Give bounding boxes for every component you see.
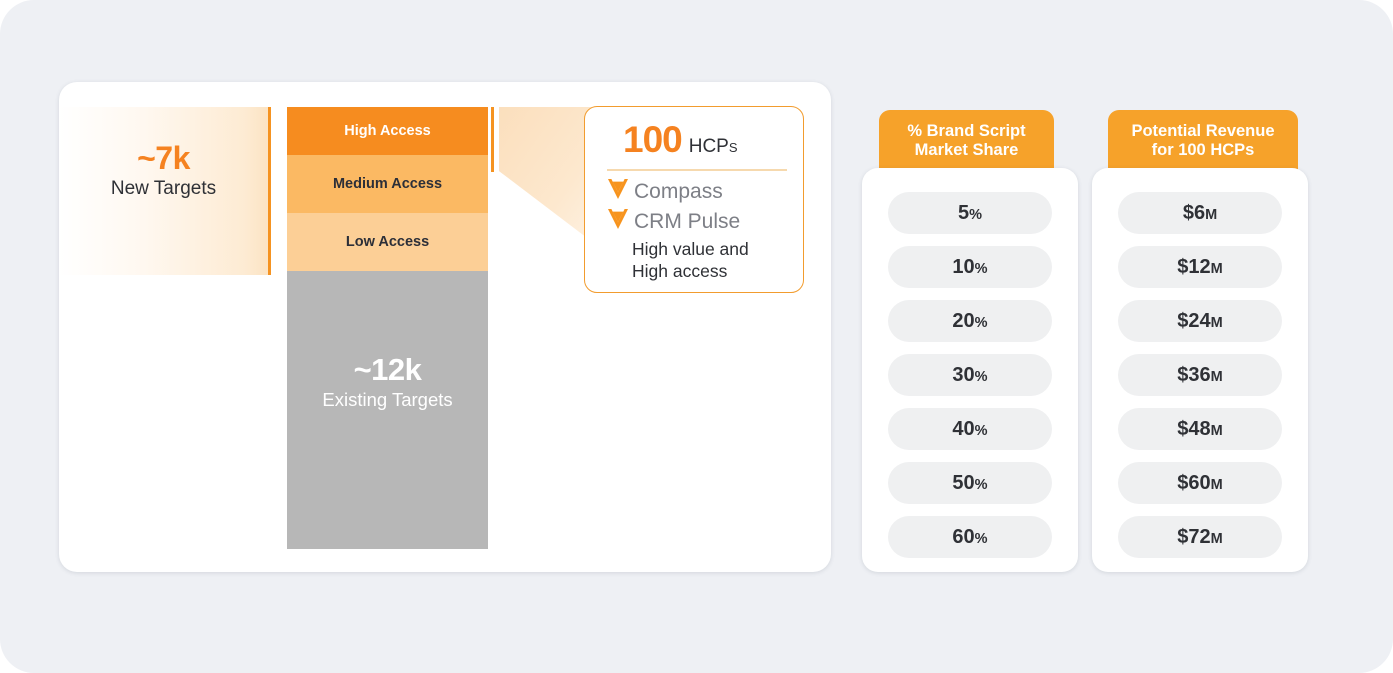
product-row-compass[interactable]: Compass (607, 177, 787, 206)
market-share-row[interactable]: 20% (888, 300, 1052, 342)
existing-targets-label: Existing Targets (322, 388, 452, 412)
new-targets-value: ~7k (59, 142, 268, 176)
revenue-unit: M (1211, 369, 1223, 385)
callout-headline: 100 HCPs (607, 119, 787, 161)
revenue-number: $48 (1177, 418, 1210, 440)
revenue-number: $24 (1177, 310, 1210, 332)
segmentation-panel: ~7k New Targets High Access Medium Acces… (59, 82, 831, 572)
callout-connector-tick (491, 107, 494, 172)
metric-header-market-share-line-2: Market Share (907, 141, 1025, 160)
metric-header-market-share-line-1: % Brand Script (907, 122, 1025, 141)
market-share-unit: % (975, 423, 988, 439)
revenue-unit: M (1211, 531, 1223, 547)
revenue-value: $12M (1177, 256, 1222, 279)
revenue-row[interactable]: $6M (1118, 192, 1282, 234)
access-tier-medium[interactable]: Medium Access (287, 155, 488, 213)
market-share-unit: % (969, 207, 982, 223)
revenue-unit: M (1211, 477, 1223, 493)
callout-divider (607, 169, 787, 171)
metric-header-revenue-line-2: for 100 HCPs (1131, 141, 1274, 160)
product-name-compass: Compass (634, 180, 723, 204)
market-share-unit: % (975, 261, 988, 277)
revenue-row[interactable]: $24M (1118, 300, 1282, 342)
product-row-crm-pulse[interactable]: CRM Pulse (607, 207, 787, 236)
metric-card-market-share: 5% 10% 20% 30% 40% 50% 60% (862, 168, 1078, 572)
market-share-number: 40 (952, 418, 974, 440)
market-share-value: 10% (952, 256, 987, 279)
metric-header-revenue-line-1: Potential Revenue (1131, 122, 1274, 141)
callout-description-line-1: High value and (632, 239, 787, 261)
product-name-crm-pulse: CRM Pulse (634, 210, 740, 234)
new-targets-label: New Targets (59, 177, 268, 202)
market-share-row[interactable]: 10% (888, 246, 1052, 288)
revenue-row[interactable]: $60M (1118, 462, 1282, 504)
revenue-number: $6 (1183, 202, 1205, 224)
market-share-number: 50 (952, 472, 974, 494)
access-tier-low-label: Low Access (346, 234, 429, 250)
revenue-value: $6M (1183, 202, 1217, 225)
metric-header-revenue: Potential Revenue for 100 HCPs (1108, 110, 1298, 172)
revenue-number: $36 (1177, 364, 1210, 386)
existing-targets-block[interactable]: ~12k Existing Targets (287, 271, 488, 549)
market-share-value: 20% (952, 310, 987, 333)
revenue-row[interactable]: $12M (1118, 246, 1282, 288)
market-share-unit: % (975, 369, 988, 385)
metric-card-revenue: $6M $12M $24M $36M $48M $60M $72M (1092, 168, 1308, 572)
market-share-row[interactable]: 50% (888, 462, 1052, 504)
market-share-number: 60 (952, 526, 974, 548)
callout-description: High value and High access (607, 239, 787, 283)
access-tier-high[interactable]: High Access (287, 107, 488, 155)
market-share-number: 5 (958, 202, 969, 224)
market-share-row[interactable]: 5% (888, 192, 1052, 234)
market-share-row[interactable]: 30% (888, 354, 1052, 396)
market-share-value: 30% (952, 364, 987, 387)
market-share-value: 50% (952, 472, 987, 495)
revenue-value: $72M (1177, 526, 1222, 549)
market-share-number: 10 (952, 256, 974, 278)
revenue-number: $60 (1177, 472, 1210, 494)
market-share-value: 5% (958, 202, 982, 225)
metric-header-market-share: % Brand Script Market Share (879, 110, 1054, 172)
market-share-unit: % (975, 531, 988, 547)
page-canvas: ~7k New Targets High Access Medium Acces… (0, 0, 1393, 673)
market-share-number: 30 (952, 364, 974, 386)
market-share-number: 20 (952, 310, 974, 332)
veeva-v-icon (607, 177, 629, 206)
callout-hcp-unit: HCPs (689, 136, 738, 158)
revenue-value: $60M (1177, 472, 1222, 495)
new-targets-divider-rule (268, 107, 271, 275)
revenue-unit: M (1211, 315, 1223, 331)
revenue-value: $24M (1177, 310, 1222, 333)
revenue-unit: M (1205, 207, 1217, 223)
revenue-value: $36M (1177, 364, 1222, 387)
market-share-row[interactable]: 40% (888, 408, 1052, 450)
revenue-row[interactable]: $48M (1118, 408, 1282, 450)
market-share-unit: % (975, 477, 988, 493)
access-tier-medium-label: Medium Access (333, 176, 442, 192)
existing-targets-value: ~12k (354, 354, 422, 387)
revenue-number: $72 (1177, 526, 1210, 548)
access-stacked-bar: High Access Medium Access Low Access ~12… (287, 107, 488, 549)
access-tier-low[interactable]: Low Access (287, 213, 488, 271)
market-share-unit: % (975, 315, 988, 331)
revenue-unit: M (1211, 423, 1223, 439)
revenue-value: $48M (1177, 418, 1222, 441)
revenue-unit: M (1211, 261, 1223, 277)
callout-hcp-count: 100 (623, 119, 682, 161)
new-targets-stat: ~7k New Targets (59, 142, 268, 201)
callout-description-line-2: High access (632, 261, 787, 283)
revenue-row[interactable]: $36M (1118, 354, 1282, 396)
market-share-value: 40% (952, 418, 987, 441)
veeva-v-icon (607, 207, 629, 236)
hcp-callout-card[interactable]: 100 HCPs Compass (584, 106, 804, 293)
access-tier-high-label: High Access (344, 123, 431, 139)
revenue-number: $12 (1177, 256, 1210, 278)
market-share-row[interactable]: 60% (888, 516, 1052, 558)
revenue-row[interactable]: $72M (1118, 516, 1282, 558)
market-share-value: 60% (952, 526, 987, 549)
